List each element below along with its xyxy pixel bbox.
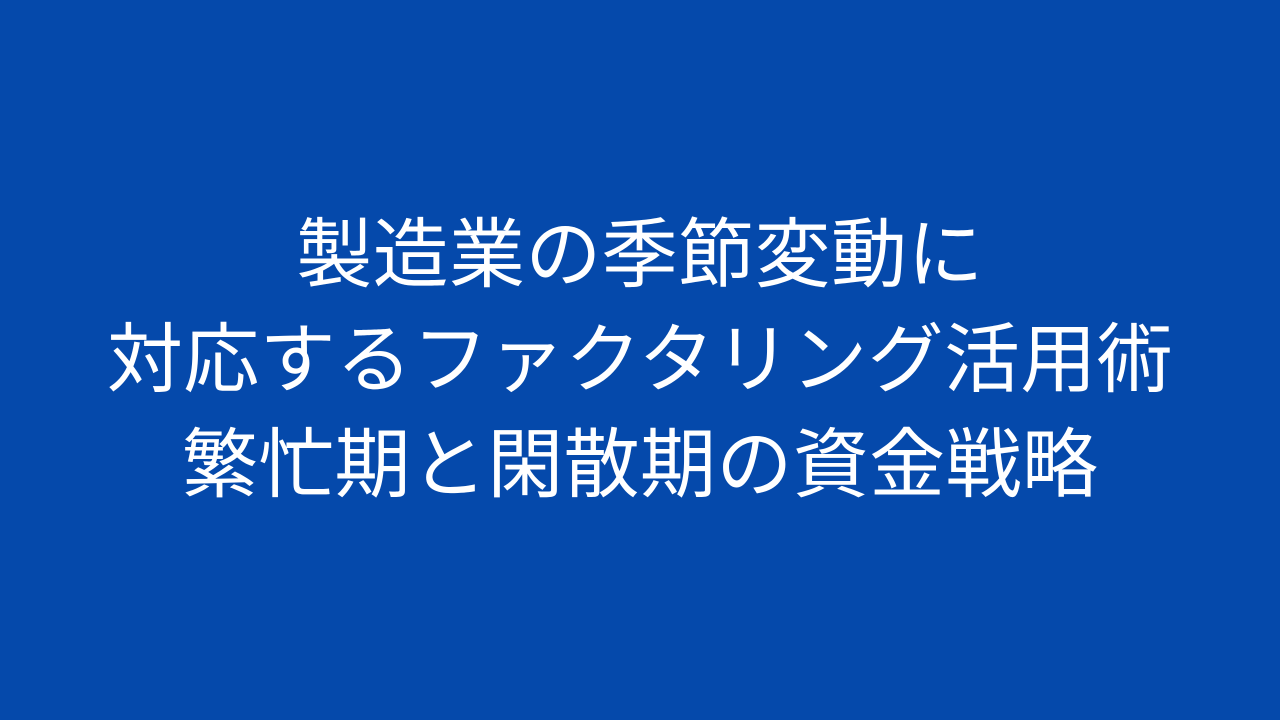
- title-slide: 製造業の季節変動に 対応するファクタリング活用術 繁忙期と閑散期の資金戦略: [0, 0, 1280, 720]
- title-line-3: 繁忙期と閑散期の資金戦略: [24, 413, 1256, 518]
- title-block: 製造業の季節変動に 対応するファクタリング活用術 繁忙期と閑散期の資金戦略: [0, 203, 1280, 518]
- title-line-2: 対応するファクタリング活用術: [24, 308, 1256, 413]
- title-line-1: 製造業の季節変動に: [24, 203, 1256, 308]
